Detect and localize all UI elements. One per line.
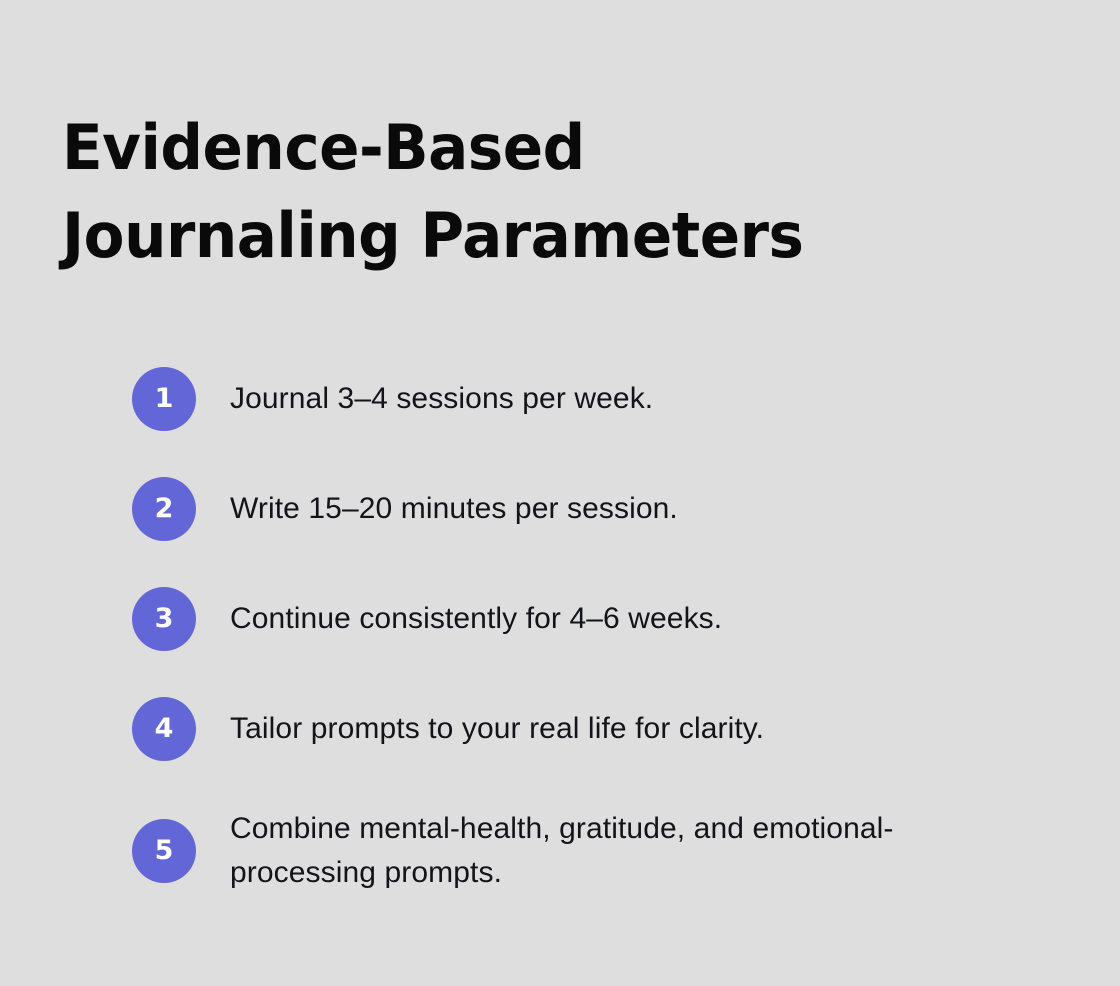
list-item: 4 Tailor prompts to your real life for c…	[132, 697, 1032, 761]
step-text: Write 15–20 minutes per session.	[230, 487, 990, 531]
steps-list: 1 Journal 3–4 sessions per week. 2 Write…	[132, 367, 1032, 895]
list-item: 5 Combine mental-health, gratitude, and …	[132, 807, 1032, 895]
step-number-badge: 5	[132, 819, 196, 883]
step-number-badge: 3	[132, 587, 196, 651]
infographic-canvas: Evidence-Based Journaling Parameters 1 J…	[0, 0, 1120, 986]
step-text: Continue consistently for 4–6 weeks.	[230, 597, 990, 641]
step-number-badge: 1	[132, 367, 196, 431]
step-text: Journal 3–4 sessions per week.	[230, 377, 990, 421]
step-number-badge: 2	[132, 477, 196, 541]
step-text: Combine mental-health, gratitude, and em…	[230, 807, 990, 895]
step-text: Tailor prompts to your real life for cla…	[230, 707, 990, 751]
step-number-badge: 4	[132, 697, 196, 761]
list-item: 2 Write 15–20 minutes per session.	[132, 477, 1032, 541]
list-item: 1 Journal 3–4 sessions per week.	[132, 367, 1032, 431]
list-item: 3 Continue consistently for 4–6 weeks.	[132, 587, 1032, 651]
page-title: Evidence-Based Journaling Parameters	[62, 104, 926, 280]
